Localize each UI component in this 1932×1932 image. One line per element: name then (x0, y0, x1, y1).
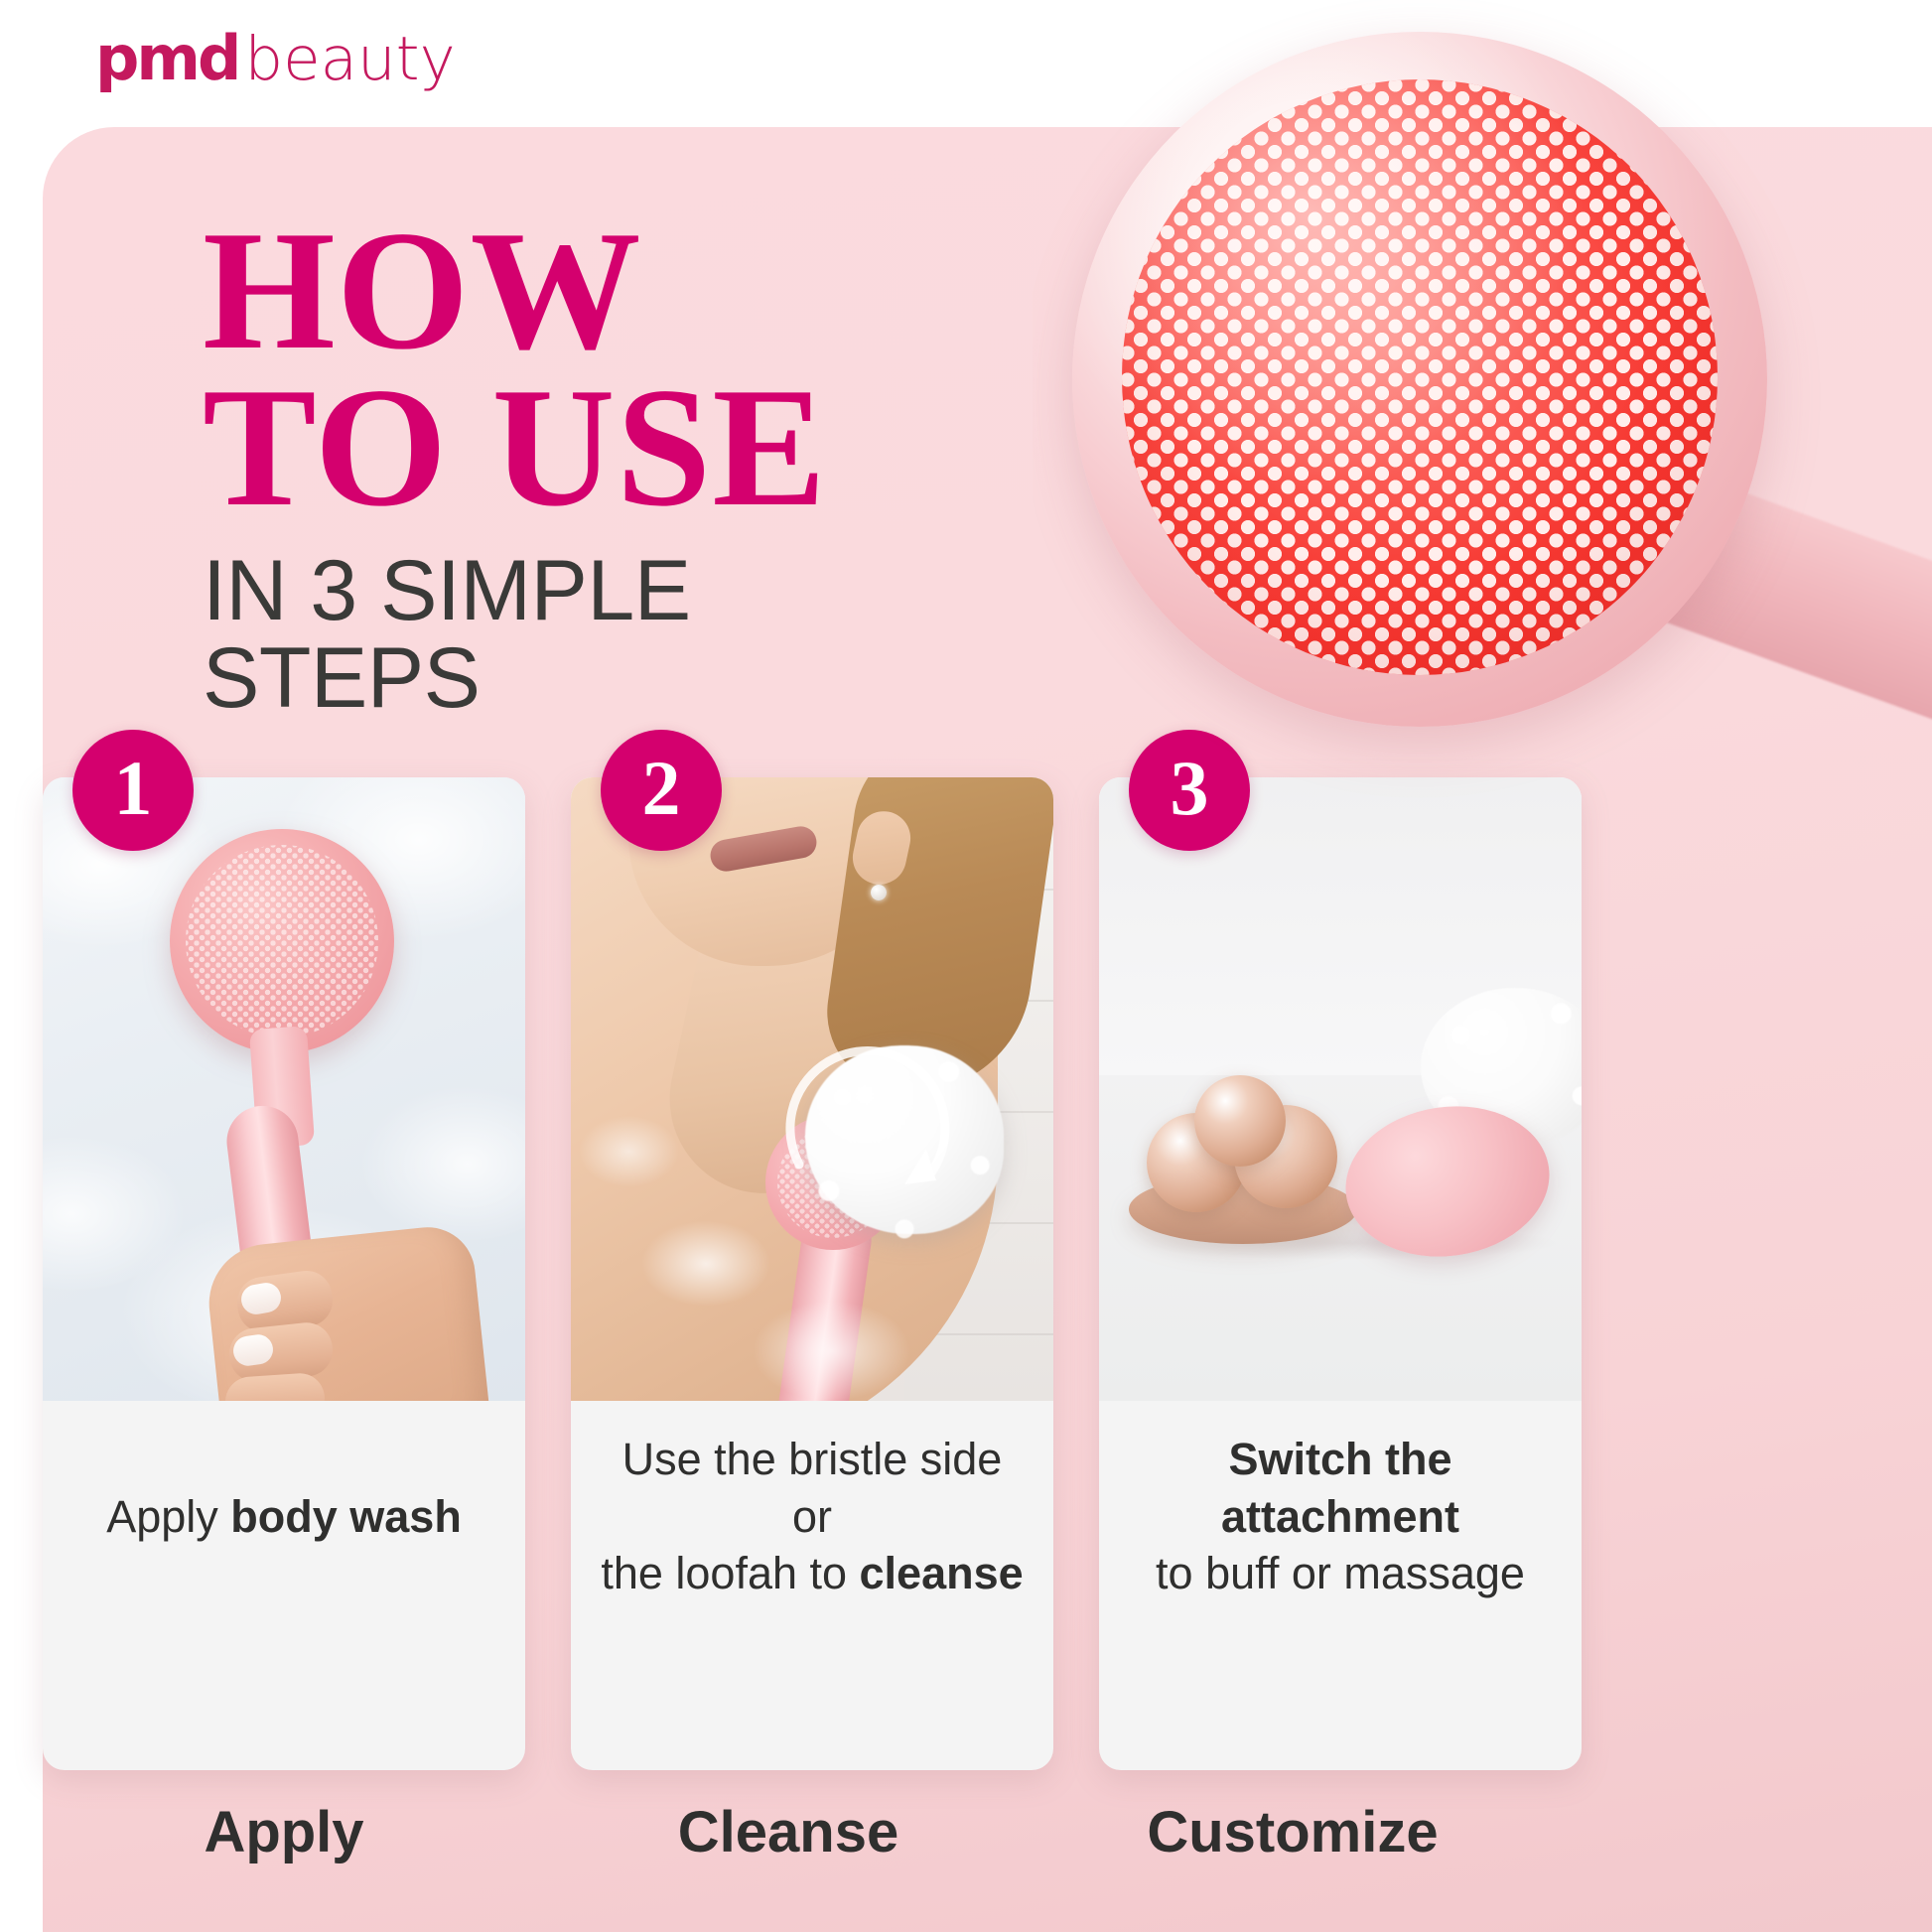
step-card-1-inner: Apply body wash (43, 777, 525, 1646)
earring (871, 885, 887, 900)
caption-2-line1: Use the bristle side or (622, 1434, 1003, 1542)
step-number-badge-1: 1 (72, 730, 194, 851)
hero-brush-head (1072, 32, 1767, 727)
hero-bristle-field (1122, 79, 1718, 675)
step-caption-3: Switch the attachmentto buff or massage (1099, 1401, 1582, 1646)
step-number-2: 2 (642, 750, 681, 827)
logo-beauty-text: beauty (244, 29, 455, 89)
scene-bath-foam (43, 777, 525, 1401)
caption-3-line2: to buff or massage (1156, 1548, 1525, 1598)
steps-card-row: 1 (43, 777, 1932, 1770)
caption-2-bold: cleanse (860, 1548, 1024, 1598)
step-number-1: 1 (114, 750, 153, 827)
brush-head-illustration (170, 829, 394, 1053)
footer-label-customize: Customize (1051, 1799, 1534, 1865)
footer-label-apply: Apply (43, 1799, 525, 1865)
step-card-1: 1 (43, 777, 525, 1770)
step-card-3: 3 Switch the attachment (1099, 777, 1582, 1770)
caption-1-plain: Apply (106, 1491, 230, 1542)
loofah-attachment (805, 1045, 1004, 1234)
brand-logo: pmd beauty (95, 28, 456, 89)
footer-label-cleanse: Cleanse (547, 1799, 1030, 1865)
headline-block: HOW TO USE IN 3 SIMPLE STEPS (203, 212, 917, 723)
step-card-3-inner: Switch the attachmentto buff or massage (1099, 777, 1582, 1646)
scene-shower-cleanse (571, 777, 1053, 1401)
subtitle-line-1: IN 3 SIMPLE (203, 548, 917, 635)
title-line-1: HOW (203, 212, 917, 369)
step-photo-1 (43, 777, 525, 1401)
footer-label-row: Apply Cleanse Customize (43, 1799, 1932, 1865)
step-caption-1-text: Apply body wash (106, 1488, 462, 1546)
step-number-badge-2: 2 (601, 730, 722, 851)
title-line-2: TO USE (203, 369, 917, 526)
subtitle-line-2: STEPS (203, 635, 917, 723)
logo-pmd-text: pmd (95, 28, 238, 89)
step-caption-2-text: Use the bristle side orthe loofah to cle… (597, 1431, 1028, 1602)
page-subtitle: IN 3 SIMPLE STEPS (203, 548, 917, 722)
step-card-2-inner: Use the bristle side orthe loofah to cle… (571, 777, 1053, 1646)
step-photo-2 (571, 777, 1053, 1401)
step-caption-2: Use the bristle side orthe loofah to cle… (571, 1401, 1053, 1646)
infographic-canvas: pmd beauty HOW TO USE IN 3 SIMPLE STEPS … (0, 0, 1932, 1932)
page-title: HOW TO USE (203, 212, 917, 526)
massage-sphere-3 (1194, 1075, 1286, 1167)
step-caption-1: Apply body wash (43, 1401, 525, 1646)
caption-2-line2-plain: the loofah to (601, 1548, 859, 1598)
step-card-2: 2 (571, 777, 1053, 1770)
hero-product-image (1033, 0, 1932, 894)
step-caption-3-text: Switch the attachmentto buff or massage (1125, 1431, 1556, 1602)
caption-1-bold: body wash (230, 1491, 462, 1542)
caption-3-bold: Switch the attachment (1221, 1434, 1459, 1542)
